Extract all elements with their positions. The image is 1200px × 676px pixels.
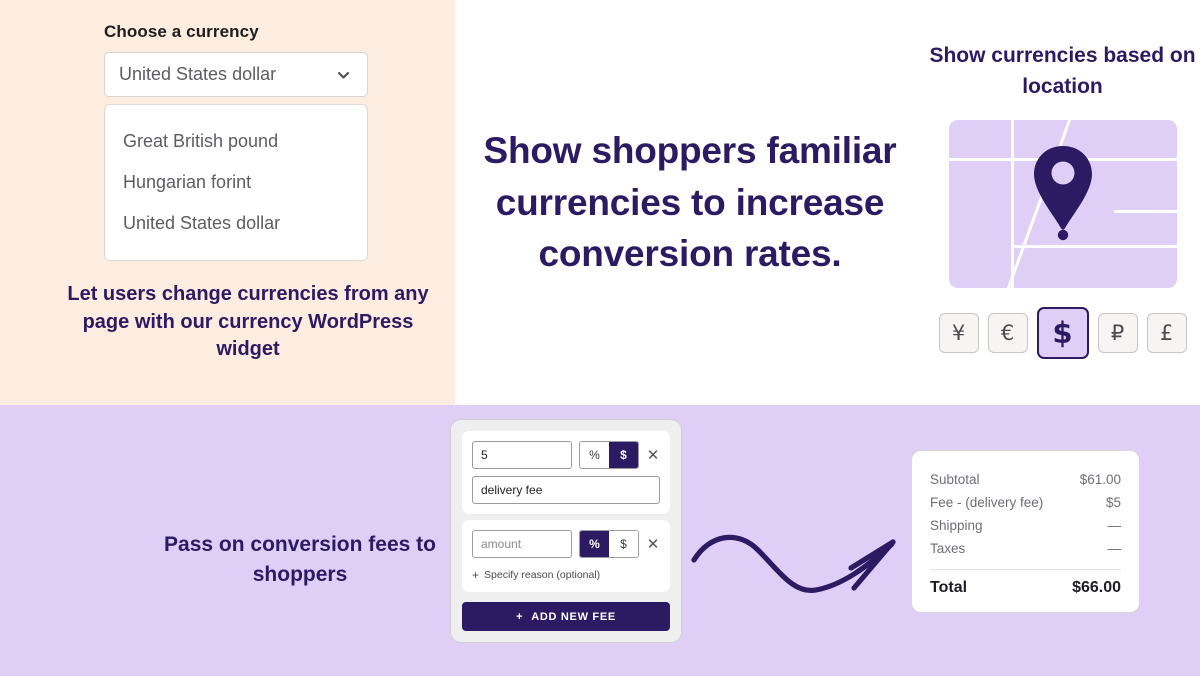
fee-unit-toggle-2[interactable]: % $ [579,530,639,558]
receipt-row-fee: Fee - (delivery fee) $5 [930,491,1121,514]
currency-options-dropdown[interactable]: Great British pound Hungarian forint Uni… [104,104,368,261]
receipt-row-taxes: Taxes — [930,537,1121,560]
fee-unit-percent-2[interactable]: % [580,531,609,557]
map-graphic [949,120,1177,288]
choose-currency-label: Choose a currency [104,22,370,42]
page-root: Choose a currency United States dollar G… [0,0,1200,676]
receipt-row-shipping: Shipping — [930,514,1121,537]
curved-arrow-icon [688,528,903,618]
specify-reason-label: Specify reason (optional) [484,569,600,581]
receipt-label: Taxes [930,541,965,556]
chevron-down-icon[interactable] [336,67,351,82]
fee-unit-percent-1[interactable]: % [580,442,609,468]
receipt-total-label: Total [930,579,967,597]
fees-caption: Pass on conversion fees to shoppers [140,530,460,590]
receipt-label: Fee - (delivery fee) [930,495,1043,510]
fee-row-1: 5 % $ ✕ delivery fee [462,431,670,514]
currency-select-value: United States dollar [119,64,276,85]
close-icon[interactable]: ✕ [646,537,660,552]
currency-widget-caption: Let users change currencies from any pag… [53,281,443,364]
plus-icon: + [472,568,479,582]
fee-unit-currency-2[interactable]: $ [609,531,638,557]
receipt-value: — [1108,518,1122,533]
close-icon[interactable]: ✕ [646,448,660,463]
fee-amount-row: 5 % $ ✕ [472,441,660,469]
currency-select[interactable]: United States dollar [104,52,368,97]
add-new-fee-label: ADD NEW FEE [531,611,616,623]
fee-editor-card: 5 % $ ✕ delivery fee amount % $ ✕ + Spe [450,419,682,643]
euro-currency-button[interactable]: € [988,313,1028,353]
ruble-currency-button[interactable]: ₽ [1098,313,1138,353]
map-gridline [1114,210,1177,213]
map-gridline [1011,245,1177,248]
receipt-value: $61.00 [1080,472,1121,487]
dollar-currency-button[interactable]: $ [1037,307,1089,359]
fee-amount-input-1[interactable]: 5 [472,441,572,469]
receipt-label: Shipping [930,518,983,533]
receipt-label: Subtotal [930,472,980,487]
map-gridline [1011,120,1014,288]
fee-row-2: amount % $ ✕ + Specify reason (optional) [462,520,670,592]
fee-unit-currency-1[interactable]: $ [609,442,638,468]
pound-currency-button[interactable]: £ [1147,313,1187,353]
currency-option-gbp[interactable]: Great British pound [105,121,367,162]
plus-icon: + [516,611,523,623]
receipt-row-total: Total $66.00 [930,576,1121,597]
receipt-value: $5 [1106,495,1121,510]
currency-picker-section: Choose a currency United States dollar G… [0,0,455,405]
map-pin-icon [1026,142,1100,242]
headline-section: Show shoppers familiar currencies to inc… [455,0,925,405]
add-new-fee-button[interactable]: + ADD NEW FEE [462,602,670,631]
receipt-value: — [1108,541,1122,556]
currency-option-usd[interactable]: United States dollar [105,203,367,244]
receipt-total-value: $66.00 [1072,579,1121,597]
specify-reason-link[interactable]: + Specify reason (optional) [472,568,660,582]
fee-unit-toggle-1[interactable]: % $ [579,441,639,469]
page-title: Show shoppers familiar currencies to inc… [468,125,913,280]
currency-symbol-buttons: ¥ € $ ₽ £ [939,307,1187,359]
location-title: Show currencies based on location [918,40,1200,102]
fee-name-input-1[interactable]: delivery fee [472,476,660,504]
receipt-row-subtotal: Subtotal $61.00 [930,468,1121,491]
location-section: Show currencies based on location ¥ € $ … [925,0,1200,405]
fee-amount-input-2[interactable]: amount [472,530,572,558]
yen-currency-button[interactable]: ¥ [939,313,979,353]
order-summary-card: Subtotal $61.00 Fee - (delivery fee) $5 … [911,450,1140,613]
fee-amount-row: amount % $ ✕ [472,530,660,558]
currency-option-huf[interactable]: Hungarian forint [105,162,367,203]
receipt-divider [930,569,1121,570]
